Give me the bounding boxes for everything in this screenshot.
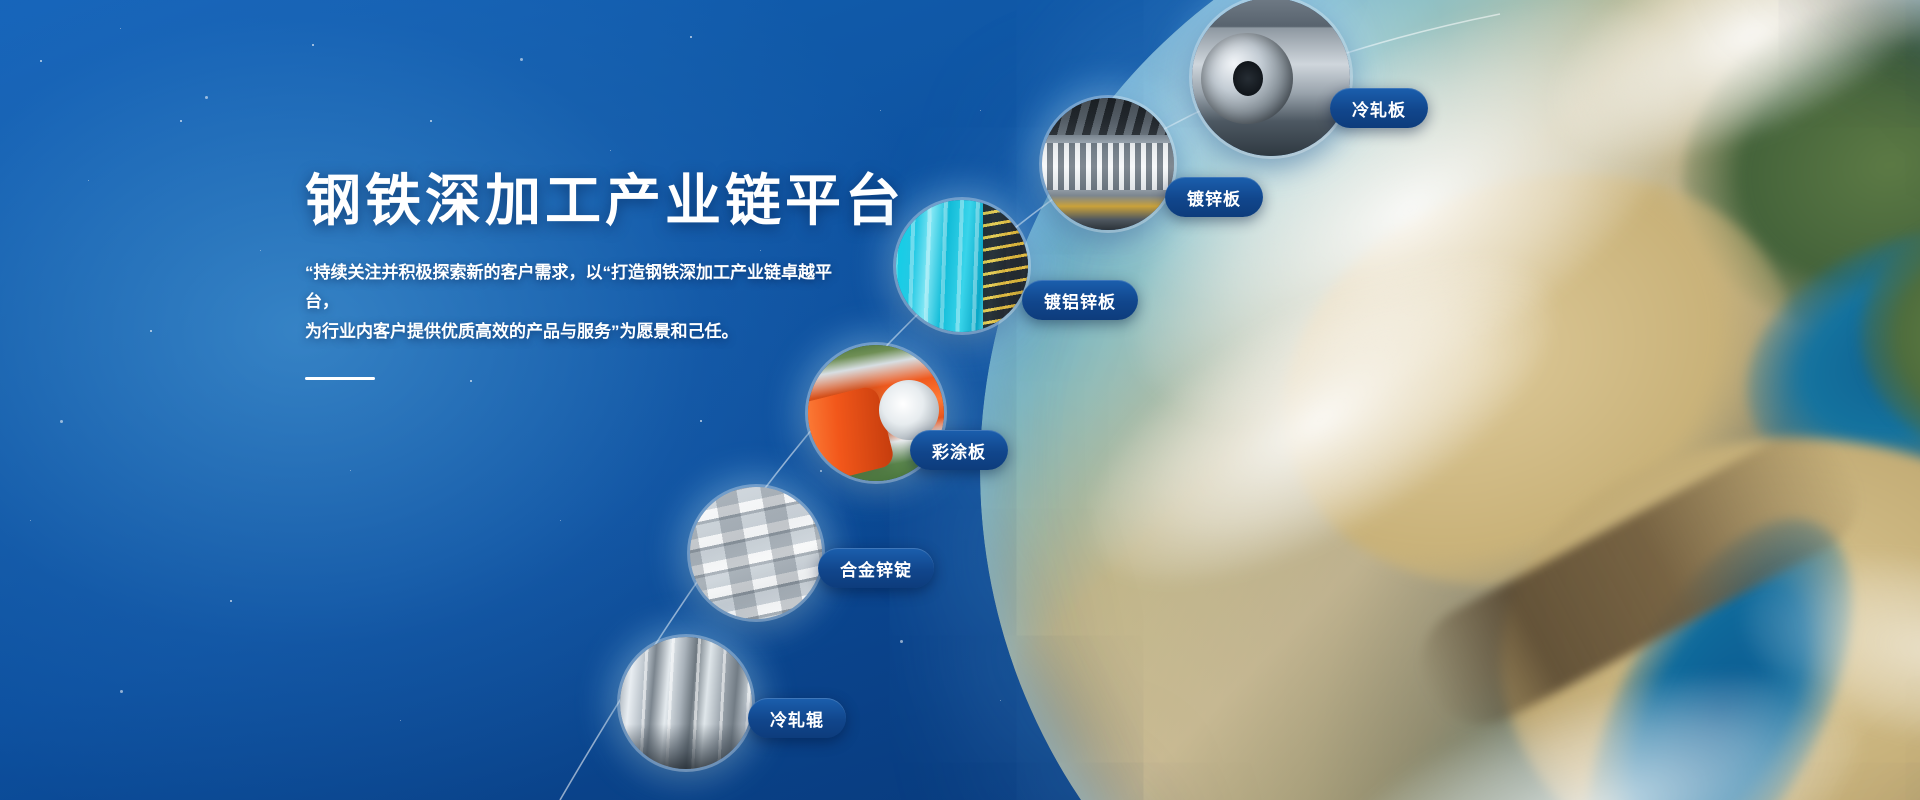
- page-title: 钢铁深加工产业链平台: [305, 170, 925, 232]
- coil-warehouse-photo: [1042, 98, 1174, 230]
- zinc-ingot-stack-photo: [690, 487, 822, 619]
- hero-banner: 钢铁深加工产业链平台 “持续关注并积极探索新的客户需求，以“打造钢铁深加工产业链…: [0, 0, 1920, 800]
- product-label-color-coated-plate[interactable]: 彩涂板: [910, 430, 1008, 470]
- subtitle-line-2: 为行业内客户提供优质高效的产品与服务”为愿景和己任。: [305, 317, 865, 347]
- product-thumbnail-galvanized-plate[interactable]: [1042, 98, 1174, 230]
- product-thumbnail-zinc-alloy-ingot[interactable]: [690, 487, 822, 619]
- product-thumbnail-cold-rolled-plate[interactable]: [1192, 0, 1350, 156]
- product-label-zinc-alloy-ingot[interactable]: 合金锌锭: [818, 548, 934, 588]
- steel-coil-row-photo: [1192, 0, 1350, 156]
- product-label-galvanized-plate[interactable]: 镀锌板: [1165, 177, 1263, 217]
- product-label-cold-rolled-plate[interactable]: 冷轧板: [1330, 88, 1428, 128]
- page-subtitle: “持续关注并积极探索新的客户需求，以“打造钢铁深加工产业链卓越平台， 为行业内客…: [305, 258, 865, 347]
- polished-roll-photo: [620, 637, 752, 769]
- product-label-alu-zinc-plate[interactable]: 镀铝锌板: [1022, 280, 1138, 320]
- subtitle-line-1: “持续关注并积极探索新的客户需求，以“打造钢铁深加工产业链卓越平台，: [305, 258, 865, 318]
- product-label-cold-rolling-roll[interactable]: 冷轧辊: [748, 698, 846, 738]
- title-divider-rule: [305, 377, 375, 380]
- cyan-coated-sheet-photo: [896, 200, 1028, 332]
- product-thumbnail-alu-zinc-plate[interactable]: [896, 200, 1028, 332]
- product-thumbnail-cold-rolling-roll[interactable]: [620, 637, 752, 769]
